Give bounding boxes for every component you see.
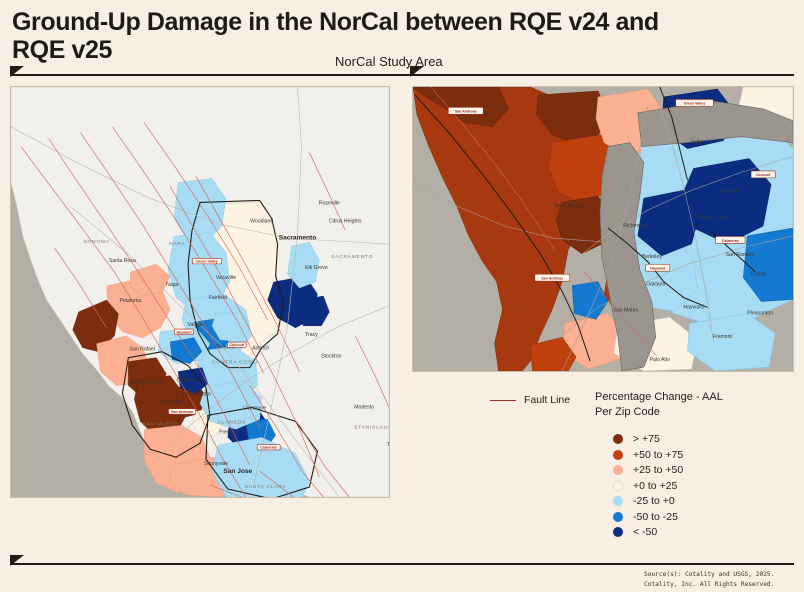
- county-label: SONOMA: [83, 239, 109, 245]
- city-label: San Francisco: [131, 380, 164, 386]
- fault-label-text: Calaveras: [260, 446, 277, 450]
- legend-color-dot: [613, 496, 623, 506]
- source-line-1: Source(s): Cotality and USGS, 2025.: [644, 570, 794, 580]
- county-label: SACRAMENTO: [331, 254, 373, 260]
- city-label: Hayward: [683, 304, 703, 310]
- legend-item-label: +25 to +50: [633, 464, 683, 476]
- norcal-overview-map-graphic: SONOMANAPASACRAMENTOCONTRA COSTAALAMEDAS…: [11, 87, 389, 497]
- city-label: Roseville: [319, 200, 340, 206]
- city-label: Walnut Creek: [698, 215, 729, 221]
- legend-items: > +75+50 to +75+25 to +50+0 to +25-25 to…: [613, 432, 755, 541]
- city-label: San Ramon: [726, 252, 753, 258]
- county-label: SANTA CLARA: [245, 484, 287, 490]
- city-label: Turlock: [387, 442, 389, 448]
- divider-accent-right-icon: [410, 66, 424, 77]
- norcal-overview-map[interactable]: SONOMANAPASACRAMENTOCONTRA COSTAALAMEDAS…: [10, 86, 390, 498]
- fault-line-icon: [490, 400, 516, 401]
- fault-label-text: Concord: [756, 173, 771, 177]
- city-label: San Mateo: [613, 307, 638, 313]
- county-label: CONTRA COSTA: [212, 360, 260, 366]
- city-label: Fairfield: [209, 295, 227, 301]
- city-label: San Mateo: [158, 399, 183, 405]
- fault-label-text: Hayward: [650, 267, 665, 271]
- legend-item: > +75: [613, 432, 755, 448]
- footer-divider: [10, 563, 794, 565]
- city-label: Fremont: [713, 334, 733, 340]
- fault-label-text: San Andreas: [171, 410, 193, 414]
- city-label: Oakland: [176, 378, 195, 384]
- city-label: Napa: [166, 282, 178, 288]
- fault-label-text: Green Valley: [196, 260, 217, 264]
- city-label: Tracy: [305, 332, 318, 338]
- legend-title-line2: Per Zip Code: [595, 405, 755, 420]
- header-divider: [10, 74, 794, 76]
- city-label: Pleasanton: [747, 310, 773, 316]
- legend-item: < -50: [613, 525, 755, 541]
- city-label: Woodland: [250, 218, 273, 224]
- fault-label-text: Hayward: [177, 330, 192, 334]
- fault-line-label: Fault Line: [524, 394, 570, 406]
- legend-item: -50 to -25: [613, 509, 755, 525]
- city-label: Richmond: [623, 223, 646, 229]
- fault-label-text: San Andreas: [541, 277, 563, 281]
- city-label: Stockton: [321, 354, 341, 360]
- legend-item: +50 to +75: [613, 447, 755, 463]
- city-label: Citrus Heights: [329, 218, 362, 224]
- city-label: Sunnyvale: [204, 461, 228, 467]
- slide-root: Ground-Up Damage in the NorCal between R…: [0, 0, 804, 592]
- city-label: San Francisco: [554, 203, 587, 209]
- fault-label-text: Calaveras: [722, 239, 739, 243]
- legend-item-label: -25 to +0: [633, 495, 675, 507]
- county-label: STANISLAUS: [354, 424, 389, 430]
- legend-item-label: > +75: [633, 433, 660, 445]
- city-label: Oakland: [646, 282, 665, 288]
- legend-item: -25 to +0: [613, 494, 755, 510]
- city-label: Vacaville: [216, 275, 236, 281]
- legend-color-dot: [613, 527, 623, 537]
- city-label: Petaluma: [119, 298, 141, 304]
- city-label: Modesto: [354, 404, 374, 410]
- city-label: Palo Alto: [650, 357, 671, 363]
- source-footer: Source(s): Cotality and USGS, 2025. Cota…: [644, 570, 794, 589]
- county-label: SAN MATEO: [142, 421, 177, 427]
- fault-label-text: Concord: [229, 343, 244, 347]
- legend-color-dot: [613, 512, 623, 522]
- city-label: Vallejo: [691, 140, 706, 146]
- legend-item-label: < -50: [633, 526, 657, 538]
- city-label: Concord: [720, 188, 740, 194]
- legend-item-label: +0 to +25: [633, 480, 677, 492]
- fault-line-legend: Fault Line: [490, 394, 570, 406]
- legend-item-label: +50 to +75: [633, 449, 683, 461]
- page-subtitle: NorCal Study Area: [335, 54, 443, 69]
- bay-area-detail-map-graphic: San FranciscoRichmondBerkeleyOaklandConc…: [413, 87, 793, 371]
- city-label: Elk Grove: [305, 265, 328, 271]
- legend-item-label: -50 to -25: [633, 511, 678, 523]
- city-label: Dublin: [751, 272, 766, 278]
- county-label: ALAMEDA: [217, 419, 246, 425]
- source-line-2: Cotality, Inc. All Rights Reserved.: [644, 580, 794, 590]
- percentage-change-legend: Percentage Change - AAL Per Zip Code > +…: [595, 390, 755, 540]
- legend-item: +0 to +25: [613, 478, 755, 494]
- city-label: Berkeley: [642, 254, 663, 260]
- fault-label-text: San Andreas: [455, 110, 477, 114]
- city-label: Fremont: [219, 429, 239, 435]
- legend-item: +25 to +50: [613, 463, 755, 479]
- fault-label-text: Green Valley: [684, 102, 705, 106]
- city-label: Sacramento: [279, 234, 316, 241]
- city-label: Antioch: [252, 346, 269, 352]
- legend-color-dot: [613, 481, 623, 491]
- divider-accent-left-icon: [10, 66, 24, 77]
- legend-color-dot: [613, 434, 623, 444]
- legend-title: Percentage Change - AAL Per Zip Code: [595, 390, 755, 420]
- city-label: Santa Rosa: [109, 258, 136, 264]
- footer-divider-accent-icon: [10, 555, 24, 566]
- legend-color-dot: [613, 465, 623, 475]
- city-label: Livermore: [243, 405, 266, 411]
- legend-color-dot: [613, 450, 623, 460]
- city-label: San Rafael: [130, 347, 156, 353]
- city-label: San Jose: [223, 468, 252, 475]
- city-label: San Leandro: [181, 391, 211, 397]
- county-label: NAPA: [169, 241, 185, 247]
- bay-area-detail-map[interactable]: San FranciscoRichmondBerkeleyOaklandConc…: [412, 86, 794, 372]
- legend-title-line1: Percentage Change - AAL: [595, 390, 755, 405]
- city-label: Vallejo: [187, 322, 202, 328]
